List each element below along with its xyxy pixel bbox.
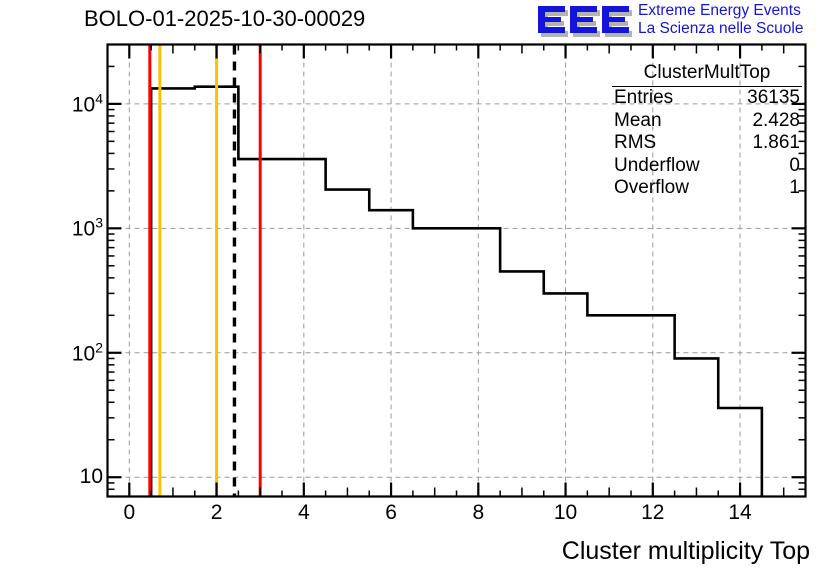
- x-axis-label-12: 12: [641, 501, 664, 525]
- y-axis-label-1000: 103: [72, 215, 103, 242]
- x-axis-label-2: 2: [211, 501, 223, 525]
- eee-logo-line1: Extreme Energy Events: [638, 2, 803, 20]
- stats-row-mean: Mean 2.428: [612, 110, 802, 133]
- stats-box: ClusterMultTop Entries 36135 Mean 2.428 …: [612, 62, 802, 200]
- stats-row-entries: Entries 36135: [612, 87, 802, 110]
- x-axis-label-4: 4: [298, 501, 310, 525]
- stats-key-overflow: Overflow: [614, 177, 689, 200]
- stats-key-rms: RMS: [614, 132, 656, 155]
- y-axis-label-100: 102: [72, 339, 103, 366]
- threshold-markers: [150, 46, 260, 496]
- stats-title: ClusterMultTop: [612, 62, 802, 87]
- x-axis-label-10: 10: [554, 501, 577, 525]
- x-axis-title: Cluster multiplicity Top: [562, 537, 810, 566]
- y-axis-label-10: 10: [80, 465, 103, 489]
- stats-key-mean: Mean: [614, 110, 662, 133]
- eee-letters-icon: [538, 2, 634, 38]
- stats-key-underflow: Underflow: [614, 155, 700, 178]
- y-axis-tick-labels: 10102103104: [0, 0, 103, 572]
- page-title: BOLO-01-2025-10-30-00029: [84, 6, 365, 32]
- x-axis-label-8: 8: [472, 501, 484, 525]
- x-axis-tick-labels: 02468101214: [0, 497, 836, 527]
- eee-logo-line2: La Scienza nelle Scuole: [638, 20, 803, 38]
- stats-value-rms: 1.861: [752, 132, 800, 155]
- eee-logo-text: Extreme Energy Events La Scienza nelle S…: [638, 2, 803, 37]
- stats-value-overflow: 1: [789, 177, 800, 200]
- stats-row-overflow: Overflow 1: [612, 177, 802, 200]
- x-axis-label-6: 6: [385, 501, 397, 525]
- stats-row-underflow: Underflow 0: [612, 155, 802, 178]
- stats-value-underflow: 0: [789, 155, 800, 178]
- eee-logo: Extreme Energy Events La Scienza nelle S…: [538, 2, 834, 40]
- x-axis-label-14: 14: [728, 501, 751, 525]
- stats-row-rms: RMS 1.861: [612, 132, 802, 155]
- stats-key-entries: Entries: [614, 87, 673, 110]
- x-axis-label-0: 0: [123, 501, 135, 525]
- stats-value-entries: 36135: [747, 87, 800, 110]
- stats-value-mean: 2.428: [752, 110, 800, 133]
- y-axis-label-10000: 104: [72, 90, 103, 117]
